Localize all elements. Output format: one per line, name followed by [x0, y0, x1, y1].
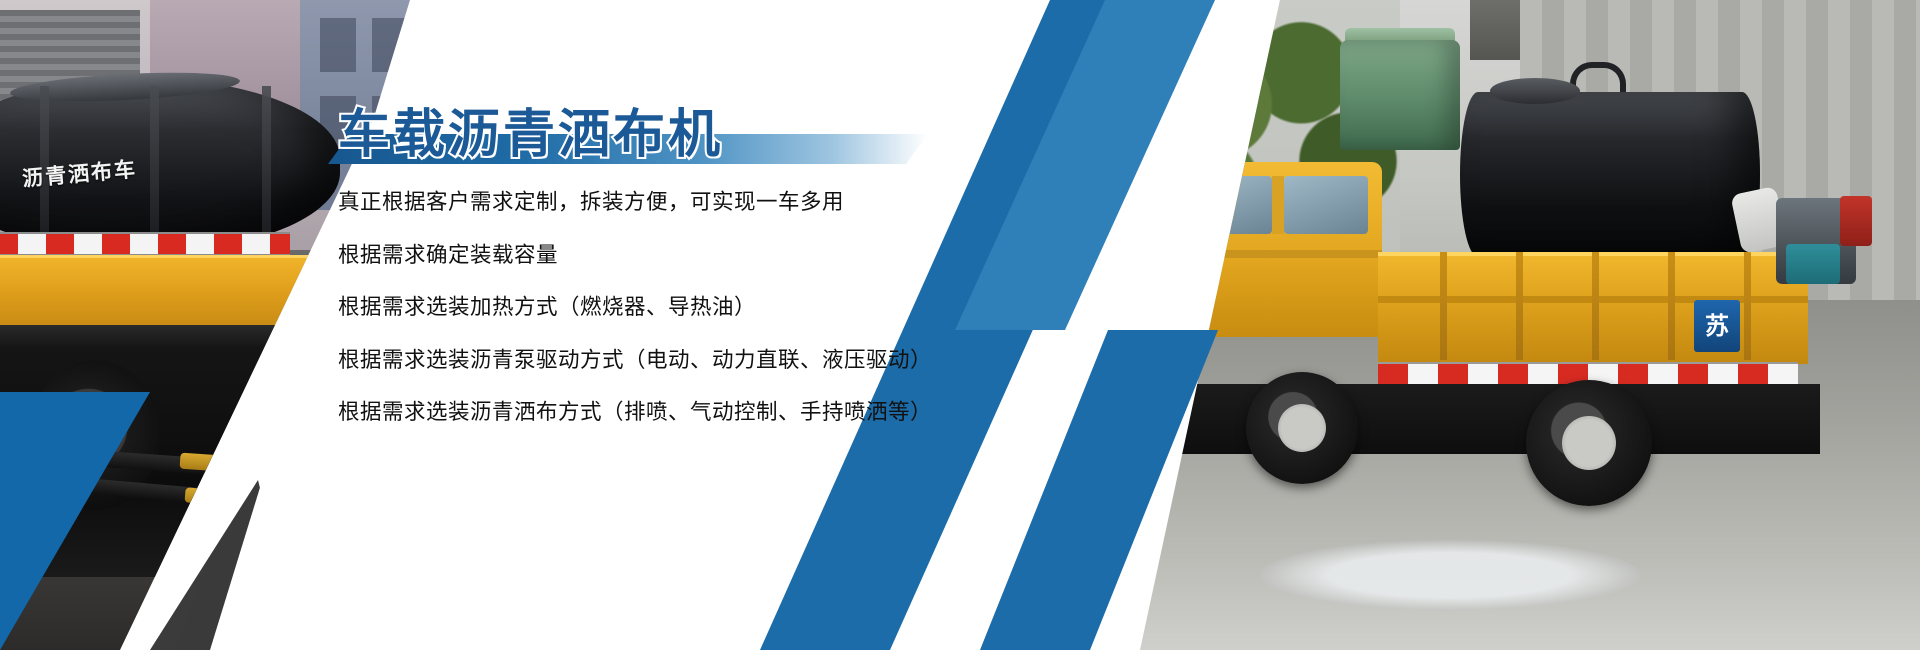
right-photo-bed-rib [1440, 252, 1447, 360]
page-title: 车载沥青洒布机 [338, 92, 723, 167]
right-photo-rear-hub [1562, 416, 1616, 470]
right-photo-cab-trim [1192, 250, 1382, 258]
right-photo-cab-window [1206, 176, 1272, 234]
right-photo-cab-post [1272, 176, 1284, 234]
left-photo-tank-band [150, 86, 159, 246]
product-banner: 沥青洒布车 [0, 0, 1920, 650]
left-photo-spray-pipe-yellow [184, 487, 247, 507]
right-photo-plate-badge: 苏 [1694, 300, 1740, 352]
right-photo-asphalt-tank [1460, 92, 1760, 257]
feature-list-item: 根据需求选装加热方式（燃烧器、导热油） [338, 297, 958, 319]
right-photo-engine-red-part [1840, 196, 1872, 246]
feature-list-item: 真正根据客户需求定制，拆装方便，可实现一车多用 [338, 192, 958, 214]
right-photo-green-tank [1340, 40, 1460, 150]
left-photo-reflective-stripe [0, 232, 290, 256]
right-photo-front-hub [1278, 404, 1326, 452]
title-block: 车载沥青洒布机 [324, 92, 944, 162]
right-photo-bed-rib [1592, 252, 1599, 360]
feature-list-item: 根据需求选装沥青泵驱动方式（电动、动力直联、液压驱动） [338, 350, 958, 372]
right-photo-bed-rib [1516, 252, 1523, 360]
right-photo-bed-rib [1744, 252, 1751, 360]
feature-list-item: 根据需求确定装载容量 [338, 245, 958, 267]
right-product-photo: 苏 [1140, 0, 1920, 650]
right-photo-water-puddle [1260, 540, 1640, 610]
right-photo-bed-rib [1668, 252, 1675, 360]
right-photo-cab-window [1284, 176, 1368, 234]
banner-content: 车载沥青洒布机 真正根据客户需求定制，拆装方便，可实现一车多用 根据需求确定装载… [324, 0, 964, 650]
right-photo-engine-teal-part [1786, 244, 1840, 284]
right-photo-tank-cap [1490, 78, 1580, 104]
feature-list: 真正根据客户需求定制，拆装方便，可实现一车多用 根据需求确定装载容量 根据需求选… [338, 192, 958, 455]
left-photo-tank-band [262, 86, 271, 246]
feature-list-item: 根据需求选装沥青洒布方式（排喷、气动控制、手持喷洒等） [338, 402, 958, 424]
